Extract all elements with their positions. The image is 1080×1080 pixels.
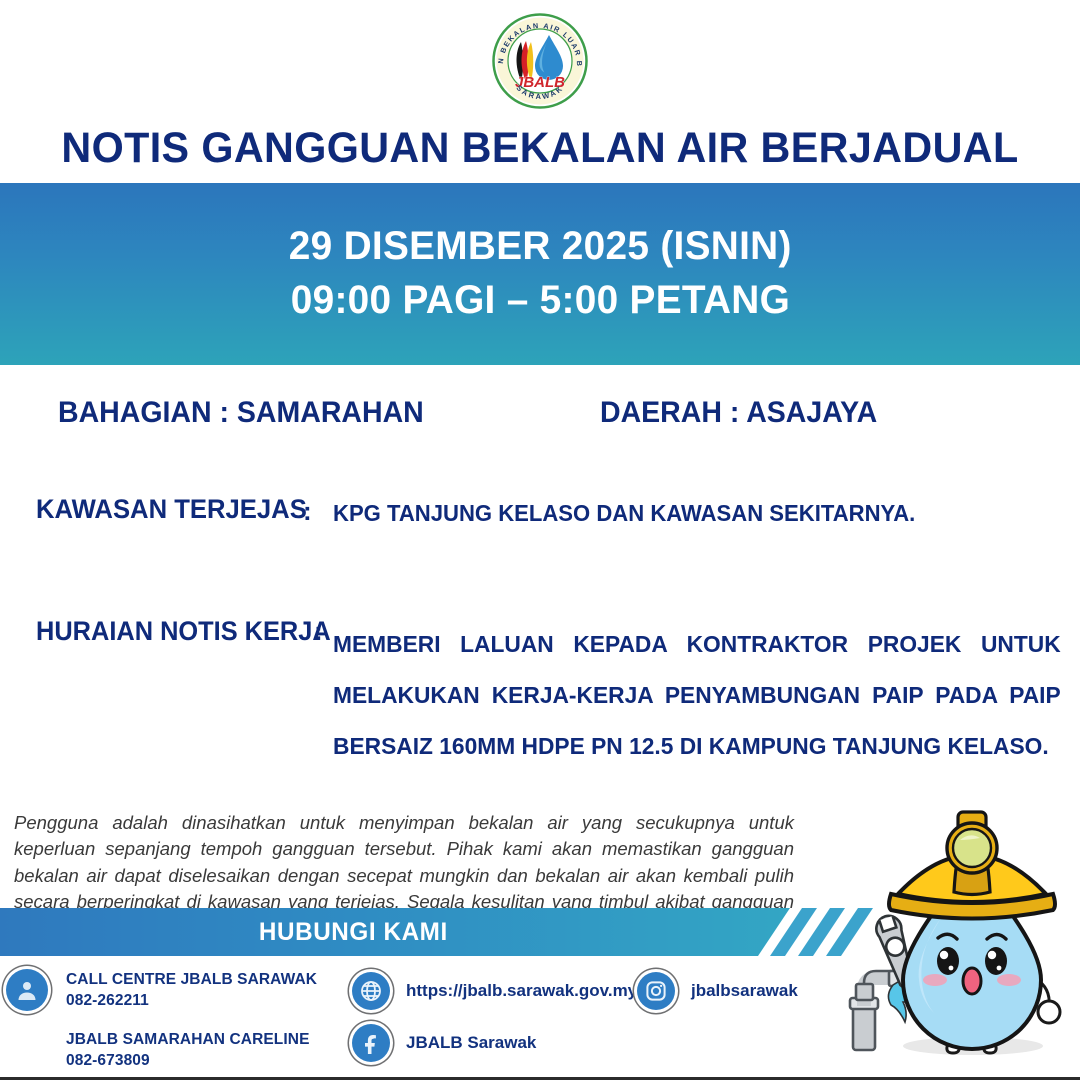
logo-container: JBALB JABATAN BEKALAN AIR LUAR BANDAR SA… xyxy=(0,8,1080,114)
facebook-icon[interactable] xyxy=(352,1024,390,1062)
instagram-handle[interactable]: jbalbsarawak xyxy=(691,981,798,1001)
contact-instagram[interactable]: jbalbsarawak xyxy=(637,972,798,1010)
work-description-line-3: BERSAIZ 160MM HDPE PN 12.5 DI KAMPUNG TA… xyxy=(333,721,1061,772)
work-description-label: HURAIAN NOTIS KERJA xyxy=(36,616,331,647)
call-centre-label: CALL CENTRE JBALB SARAWAK xyxy=(66,969,317,990)
notice-time: 09:00 PAGI – 5:00 PETANG xyxy=(290,274,789,328)
division-label: BAHAGIAN : SAMARAHAN xyxy=(58,396,424,430)
contact-website[interactable]: https://jbalb.sarawak.gov.my/ xyxy=(352,972,642,1010)
facebook-handle[interactable]: JBALB Sarawak xyxy=(406,1033,536,1053)
contact-careline[interactable]: JBALB SAMARAHAN CARELINE 082-673809 xyxy=(66,1029,310,1072)
instagram-icon[interactable] xyxy=(637,972,675,1010)
division-district-row: BAHAGIAN : SAMARAHAN DAERAH : ASAJAYA xyxy=(0,396,1080,438)
affected-area-colon: : xyxy=(303,496,312,527)
work-description-line-1: MEMBERI LALUAN KEPADA KONTRAKTOR PROJEK … xyxy=(333,619,1061,670)
notice-date: 29 DISEMBER 2025 (ISNIN) xyxy=(289,220,792,274)
affected-area-value: KPG TANJUNG KELASO DAN KAWASAN SEKITARNY… xyxy=(333,500,915,527)
contact-banner-bar: HUBUNGI KAMI xyxy=(0,908,790,956)
call-centre-number[interactable]: 082-262211 xyxy=(66,990,317,1011)
affected-area-label: KAWASAN TERJEJAS xyxy=(36,494,307,525)
jbalb-logo-icon: JBALB JABATAN BEKALAN AIR LUAR BANDAR SA… xyxy=(490,11,590,111)
district-label: DAERAH : ASAJAYA xyxy=(600,396,877,430)
notice-poster: JBALB JABATAN BEKALAN AIR LUAR BANDAR SA… xyxy=(0,0,1080,1080)
hard-hat-icon xyxy=(889,812,1055,919)
work-description-colon: : xyxy=(314,616,323,647)
contact-banner-title: HUBUNGI KAMI xyxy=(259,918,448,947)
website-url[interactable]: https://jbalb.sarawak.gov.my/ xyxy=(406,981,642,1001)
work-description-text: MEMBERI LALUAN KEPADA KONTRAKTOR PROJEK … xyxy=(333,619,1061,772)
careline-number[interactable]: 082-673809 xyxy=(66,1050,310,1071)
work-description-line-2: MELAKUKAN KERJA-KERJA PENYAMBUNGAN PAIP … xyxy=(333,670,1061,721)
person-icon xyxy=(6,969,48,1011)
globe-icon[interactable] xyxy=(352,972,390,1010)
careline-label: JBALB SAMARAHAN CARELINE xyxy=(66,1029,310,1050)
page-title: NOTIS GANGGUAN BEKALAN AIR BERJADUAL xyxy=(22,124,1059,173)
contact-facebook[interactable]: JBALB Sarawak xyxy=(352,1024,536,1062)
water-droplet-worker-mascot-icon xyxy=(845,798,1080,1070)
date-time-banner: 29 DISEMBER 2025 (ISNIN) 09:00 PAGI – 5:… xyxy=(0,183,1080,365)
contact-call-centre[interactable]: CALL CENTRE JBALB SARAWAK 082-262211 xyxy=(6,969,317,1012)
